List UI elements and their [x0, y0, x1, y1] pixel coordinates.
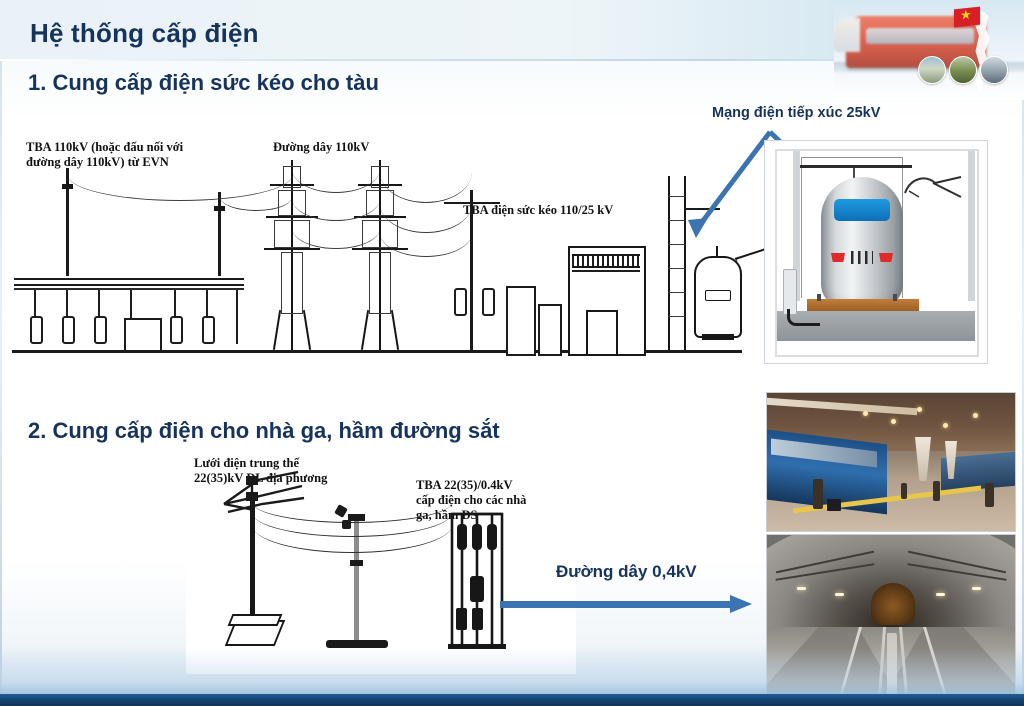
catenary-lattice-6 — [668, 316, 686, 328]
catenary-mast — [668, 176, 686, 352]
vietnam-flag-icon — [954, 7, 980, 28]
gantry-mast — [470, 190, 473, 352]
train-light-right-icon — [879, 253, 893, 262]
ceiling-light-3 — [917, 407, 922, 412]
train-grille — [851, 251, 873, 264]
arrow-04kv-head — [730, 595, 752, 613]
page-title: Hệ thống cấp điện — [30, 18, 259, 49]
busbar-main — [14, 278, 244, 286]
tower-1-arm-3 — [264, 248, 320, 250]
catenary-lattice-5 — [668, 292, 686, 304]
train-windshield — [834, 199, 890, 221]
rail-right — [893, 294, 897, 301]
gantry-arm — [444, 202, 500, 204]
section-2-heading: 2. Cung cấp điện cho nhà ga, hầm đường s… — [28, 418, 500, 444]
section-1-heading: 1. Cung cấp điện sức kéo cho tàu — [28, 70, 379, 96]
tunnel-lamp-3 — [972, 587, 981, 590]
substation-mast-right — [218, 192, 221, 276]
tower-2-leg-right — [391, 310, 399, 350]
cable-run — [787, 309, 820, 326]
passenger-2 — [933, 481, 940, 501]
equipment-cabinet-1 — [506, 286, 536, 356]
rail-left — [817, 294, 821, 301]
passenger-1 — [813, 479, 823, 509]
insulator-4 — [170, 316, 183, 344]
arrow-04kv — [500, 595, 768, 613]
insulator-2 — [62, 316, 75, 344]
tss-deck-top — [572, 254, 640, 268]
passenger-3 — [985, 483, 994, 507]
station-platform-photo — [766, 392, 1016, 532]
ceiling-light-1 — [863, 411, 868, 416]
header-thumbnails — [918, 56, 1008, 84]
ceiling-light-5 — [973, 413, 978, 418]
pole-2-base — [326, 640, 388, 648]
busbar-secondary — [14, 288, 244, 290]
tss-inner-door — [586, 310, 618, 356]
station-power-diagram: Lưới điện trung thế 22(35)kV ĐL địa phươ… — [186, 452, 576, 674]
footer-bar — [0, 694, 1024, 706]
substation-assembly — [14, 270, 244, 352]
label-luoi-line1: Lưới điện trung thế — [194, 456, 327, 471]
insulator-3 — [94, 316, 107, 344]
pole-1-base-top — [228, 614, 283, 626]
traction-substation-building — [568, 246, 646, 356]
gantry-insulator-2 — [482, 288, 495, 316]
catenary-lattice-3 — [668, 244, 686, 256]
header-artwork — [834, 0, 1024, 100]
pole-2-band — [350, 560, 363, 566]
label-duong-day-04kv: Đường dây 0,4kV — [556, 562, 697, 582]
luggage-1 — [827, 499, 841, 511]
label-tba-110kv: TBA 110kV (hoặc đấu nối với đường dây 11… — [26, 140, 183, 170]
track-bed — [807, 299, 919, 311]
label-tba-110kv-line2: đường dây 110kV) từ EVN — [26, 155, 183, 170]
mast-cap-right — [214, 206, 225, 211]
tunnel-wall-right — [968, 151, 975, 301]
train-front-body — [821, 177, 903, 309]
mast-cap-left — [62, 184, 73, 189]
ceiling-light-4 — [943, 423, 948, 428]
passenger-4 — [901, 483, 907, 499]
tunnel-far-end — [871, 583, 915, 625]
control-cabinet — [124, 318, 162, 352]
insulator-5 — [202, 316, 215, 344]
footer-gradient — [0, 648, 1024, 694]
tower-1-leg-right — [303, 310, 311, 350]
distribution-wire-3 — [252, 522, 452, 553]
label-duong-day-110kv: Đường dây 110kV — [273, 140, 369, 155]
bay-drop-7 — [236, 290, 238, 344]
header-blur-overlay — [834, 0, 1024, 100]
contact-wire — [800, 165, 912, 168]
pantograph-stem — [716, 246, 718, 258]
train-symbol-window — [705, 290, 731, 301]
catenary-lattice-2 — [668, 220, 686, 232]
tower-2-leg-left — [361, 310, 369, 350]
tunnel-lamp-2 — [835, 593, 844, 596]
tss-deck-line — [572, 270, 640, 272]
callout-mang-dien-25kv: Mạng điện tiếp xúc 25kV — [712, 105, 880, 121]
tower-2-lattice-4 — [369, 252, 391, 314]
catenary-lattice-1 — [668, 196, 686, 208]
catenary-bracket — [686, 208, 720, 210]
insulator-1 — [30, 316, 43, 344]
distribution-substation-structure — [448, 510, 506, 650]
tunnel-lamp-4 — [936, 593, 945, 596]
catenary-lattice-4 — [668, 268, 686, 280]
slide-left-border — [0, 0, 2, 706]
thumbnail-field-icon — [949, 56, 977, 84]
arrow-04kv-shaft — [500, 601, 732, 608]
label-tba-suc-keo: TBA điện sức kéo 110/25 kV — [463, 203, 613, 218]
train-symbol-base — [702, 334, 734, 340]
thumbnail-landscape-icon — [918, 56, 946, 84]
gantry-insulator-1 — [454, 288, 467, 316]
traction-power-diagram: TBA 110kV (hoặc đấu nối với đường dây 11… — [8, 128, 758, 368]
train-light-left-icon — [831, 253, 845, 262]
label-tba2-line1: TBA 22(35)/0.4kV — [416, 478, 526, 493]
slide-root: Hệ thống cấp điện 1. Cung cấp điện sức k… — [0, 0, 1024, 706]
thumbnail-worker-icon — [980, 56, 1008, 84]
catenary-support-hook-icon — [903, 171, 965, 205]
wire-joint-2 — [342, 520, 351, 529]
train-cross-section-panel — [764, 140, 988, 364]
tower-1-lattice-4 — [281, 252, 303, 314]
train-symbol-tau — [694, 256, 742, 338]
ceiling-light-2 — [891, 419, 896, 424]
label-tba-110kv-line1: TBA 110kV (hoặc đấu nối với — [26, 140, 183, 155]
tunnel-lamp-1 — [797, 587, 806, 590]
equipment-cabinet-2 — [538, 304, 562, 356]
tower-1-leg-left — [273, 310, 281, 350]
